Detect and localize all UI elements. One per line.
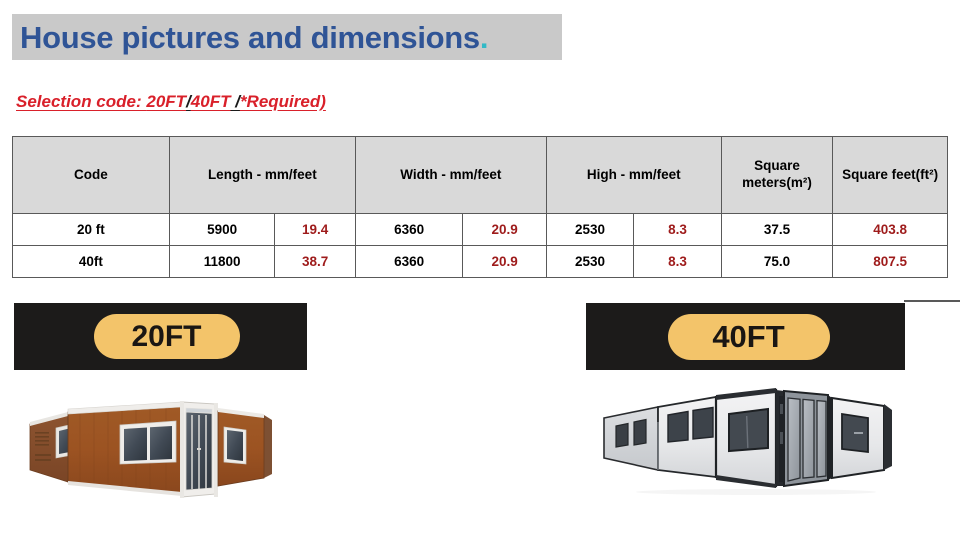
cell-length-mm: 5900 <box>169 214 275 246</box>
banner-20ft-pill: 20FT <box>94 314 240 359</box>
th-square-feet: Square feet(ft²) <box>833 137 948 214</box>
selection-code-label: Selection code: <box>16 92 146 111</box>
cell-square-feet: 807.5 <box>833 246 948 278</box>
cell-square-feet: 403.8 <box>833 214 948 246</box>
table-header-row: Code Length - mm/feet Width - mm/feet Hi… <box>13 137 948 214</box>
th-length: Length - mm/feet <box>169 137 355 214</box>
page-title-period: . <box>480 22 489 53</box>
cell-width-mm: 6360 <box>355 214 463 246</box>
cell-code: 20 ft <box>13 214 170 246</box>
selection-code-20ft: 20FT <box>146 92 186 111</box>
horizontal-rule <box>904 300 960 302</box>
th-square-meters-line1: Square <box>754 158 800 173</box>
banner-40ft: 40FT <box>586 303 905 370</box>
th-square-meters-line2: meters(m²) <box>742 175 812 190</box>
cell-length-ft: 19.4 <box>275 214 355 246</box>
table-row: 20 ft 5900 19.4 6360 20.9 2530 8.3 37.5 … <box>13 214 948 246</box>
page-title: House pictures and dimensions <box>12 22 480 53</box>
cell-high-mm: 2530 <box>546 214 633 246</box>
banner-40ft-pill: 40FT <box>668 314 830 360</box>
dimensions-table: Code Length - mm/feet Width - mm/feet Hi… <box>12 136 948 278</box>
th-width: Width - mm/feet <box>355 137 546 214</box>
cell-square-meters: 37.5 <box>721 214 833 246</box>
th-square-meters: Square meters(m²) <box>721 137 833 214</box>
cell-high-ft: 8.3 <box>634 214 721 246</box>
cell-length-mm: 11800 <box>169 246 275 278</box>
cell-length-ft: 38.7 <box>275 246 355 278</box>
table-row: 40ft 11800 38.7 6360 20.9 2530 8.3 75.0 … <box>13 246 948 278</box>
house-image-40ft <box>596 382 936 517</box>
cell-width-ft: 20.9 <box>463 246 546 278</box>
th-code: Code <box>13 137 170 214</box>
house-20ft-illustration <box>24 382 300 517</box>
selection-code-required: *Required) <box>240 92 326 111</box>
page-title-highlight: House pictures and dimensions. <box>12 14 562 60</box>
cell-width-ft: 20.9 <box>463 214 546 246</box>
selection-code-40ft: 40FT <box>191 92 231 111</box>
house-40ft-illustration <box>596 382 936 517</box>
selection-code-line: Selection code: 20FT/40FT /*Required) <box>16 92 326 112</box>
selection-code-separator-2: / <box>230 92 239 111</box>
th-high: High - mm/feet <box>546 137 721 214</box>
house-image-20ft <box>24 382 300 517</box>
banner-20ft: 20FT <box>14 303 307 370</box>
cell-square-meters: 75.0 <box>721 246 833 278</box>
cell-width-mm: 6360 <box>355 246 463 278</box>
cell-code: 40ft <box>13 246 170 278</box>
cell-high-ft: 8.3 <box>634 246 721 278</box>
cell-high-mm: 2530 <box>546 246 633 278</box>
